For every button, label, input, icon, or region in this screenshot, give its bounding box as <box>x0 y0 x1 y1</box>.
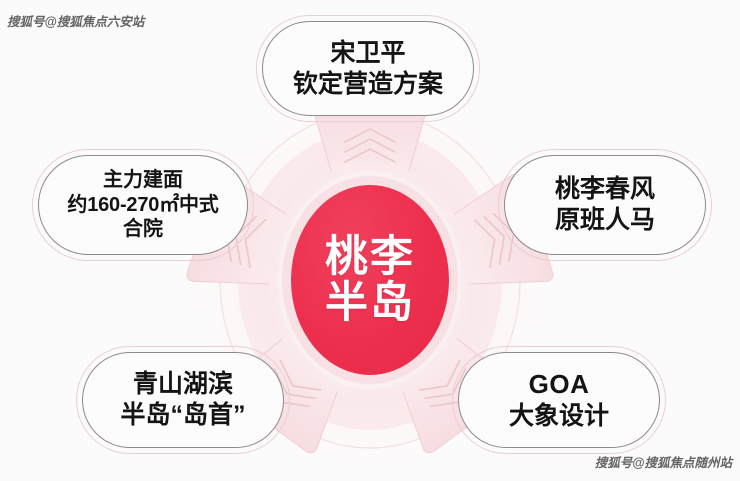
bubble-bottom-right-line-2: 大象设计 <box>509 401 609 432</box>
bubble-bottom-left[interactable]: 青山湖滨 半岛“岛首” <box>82 352 284 448</box>
bubble-left-line-1: 主力建面 <box>103 168 183 193</box>
bubble-bottom-left-line-1: 青山湖滨 <box>133 369 233 400</box>
watermark-top-left: 搜狐号@搜狐焦点六安站 <box>7 11 144 30</box>
bubble-left-line-2: 约160-270㎡中式 <box>67 193 218 218</box>
bubble-bottom-right-line-1: GOA <box>529 368 590 400</box>
bubble-top-line-2: 钦定营造方案 <box>293 69 443 100</box>
bubble-right-line-1: 桃李春风 <box>555 174 655 205</box>
bubble-bottom-right[interactable]: GOA 大象设计 <box>458 352 660 448</box>
center-line-1: 桃李 <box>325 234 415 280</box>
bubble-left[interactable]: 主力建面 约160-270㎡中式 合院 <box>38 155 248 255</box>
bubble-top-line-1: 宋卫平 <box>330 38 405 69</box>
center-emblem[interactable]: 桃李 半岛 <box>291 185 449 375</box>
bubble-top[interactable]: 宋卫平 钦定营造方案 <box>262 21 474 116</box>
center-line-2: 半岛 <box>325 280 415 326</box>
infographic-canvas: 桃李 半岛 宋卫平 钦定营造方案 主力建面 约160-270㎡中式 合院 桃李春… <box>0 0 740 481</box>
bubble-right[interactable]: 桃李春风 原班人马 <box>504 155 706 255</box>
bubble-left-line-3: 合院 <box>123 217 163 242</box>
watermark-bottom-right: 搜狐号@搜狐焦点随州站 <box>595 452 732 471</box>
bubble-right-line-2: 原班人马 <box>555 205 655 236</box>
bubble-bottom-left-line-2: 半岛“岛首” <box>120 400 245 431</box>
